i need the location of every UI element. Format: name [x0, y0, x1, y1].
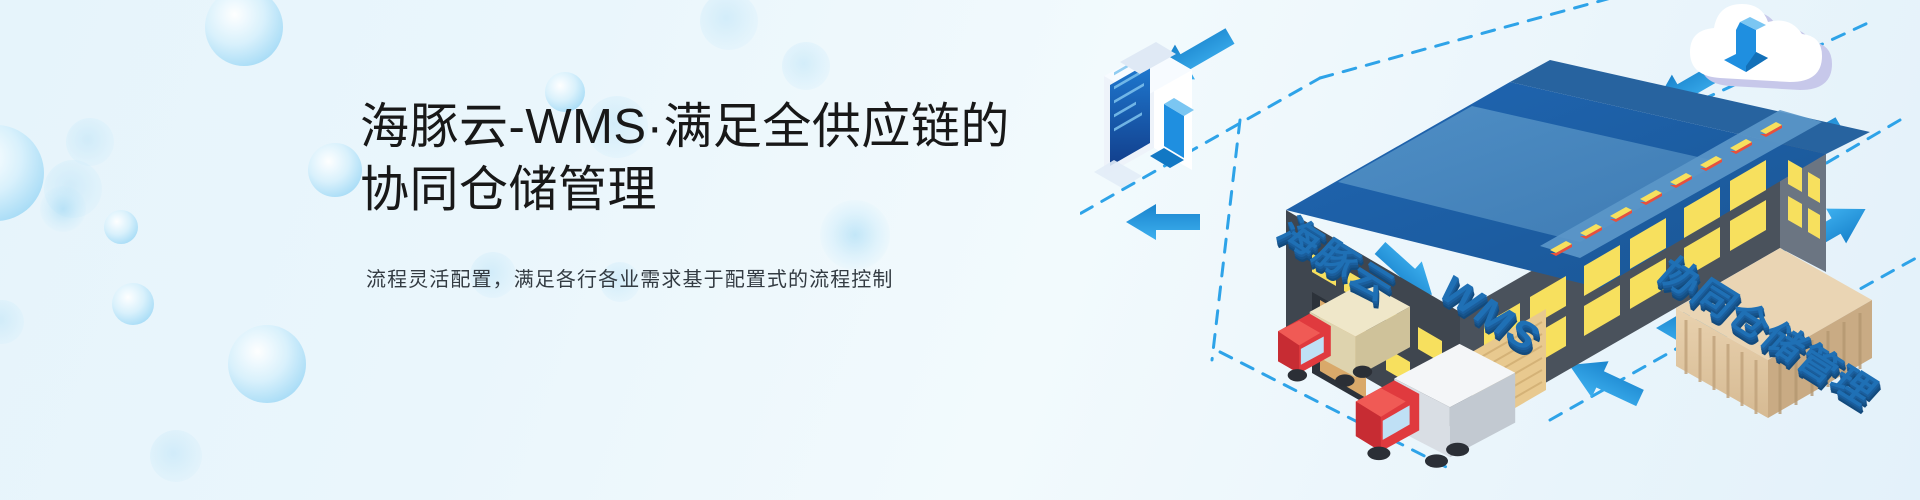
headline-line-2: 协同仓储管理	[360, 159, 1080, 222]
banner-subtitle: 流程灵活配置，满足各行各业需求基于配置式的流程控制	[360, 263, 1080, 292]
bubble-decoration	[205, 0, 283, 66]
server-rack-icon	[1094, 42, 1194, 188]
bubble-decoration	[104, 210, 138, 244]
banner-copy: 海豚云-WMS·满足全供应链的 协同仓储管理 流程灵活配置，满足各行各业需求基于…	[360, 96, 1080, 292]
warehouse-illustration: 海豚云 WMS 协同仓储管理	[1080, 0, 1920, 500]
headline-line-1: 海豚云-WMS·满足全供应链的	[360, 100, 1010, 154]
bubble-decoration	[0, 300, 24, 344]
bubble-decoration	[44, 160, 102, 218]
bubble-decoration	[0, 125, 44, 221]
bubble-decoration	[66, 118, 114, 166]
page-title: 海豚云-WMS·满足全供应链的 协同仓储管理	[360, 96, 1080, 221]
promo-banner: 海豚云-WMS·满足全供应链的 协同仓储管理 流程灵活配置，满足各行各业需求基于…	[0, 0, 1920, 500]
cloud-download-icon	[1690, 4, 1832, 90]
bubble-decoration	[700, 0, 758, 50]
bubble-decoration	[40, 186, 86, 232]
bubble-decoration	[112, 283, 154, 325]
bubble-decoration	[150, 430, 202, 482]
bubble-decoration	[308, 143, 362, 197]
bubble-decoration	[228, 325, 306, 403]
bubble-decoration	[782, 42, 830, 90]
